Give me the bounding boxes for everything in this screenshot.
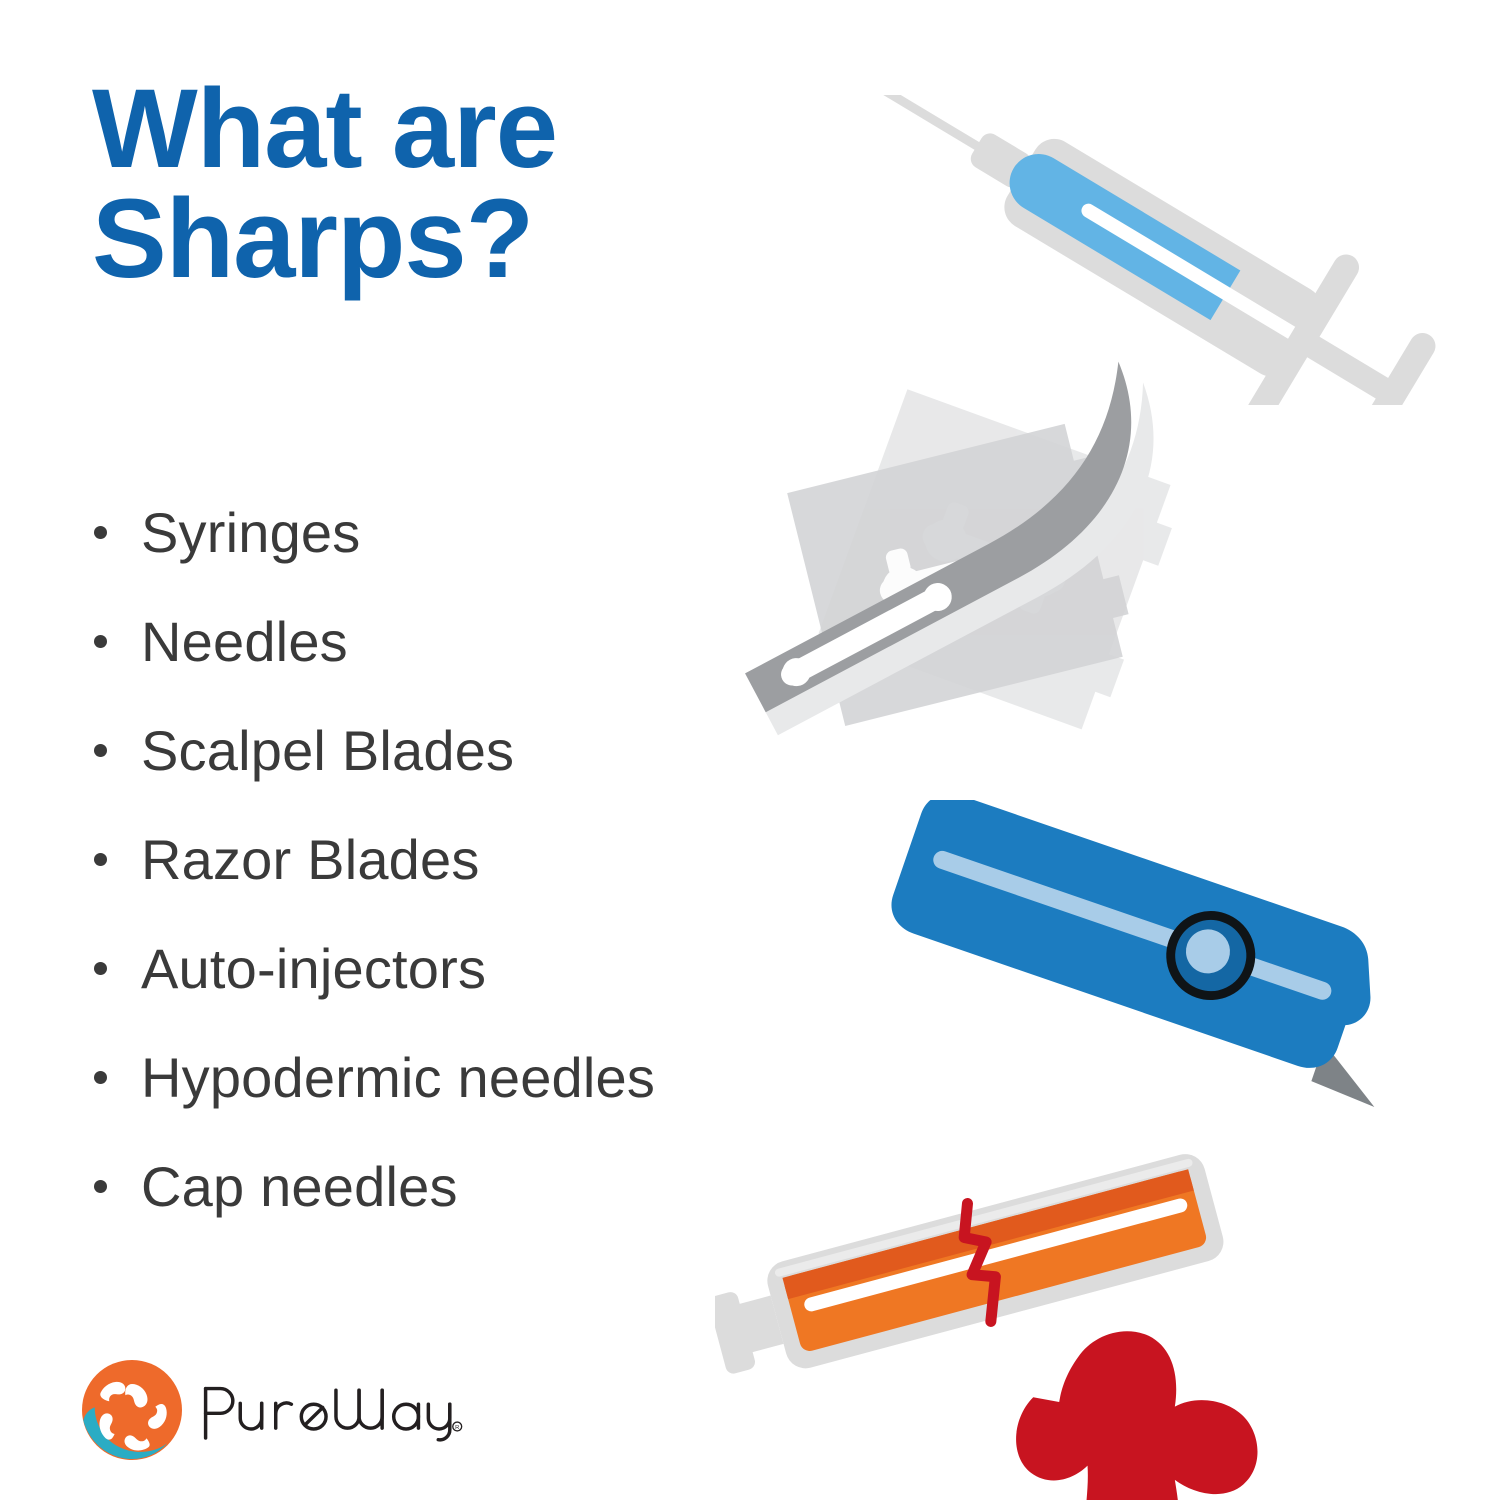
list-item-label: Razor Blades bbox=[141, 832, 480, 888]
title-line-1: What are bbox=[92, 74, 732, 184]
pureway-wordmark: R bbox=[198, 1377, 464, 1443]
pureway-logo[interactable]: R bbox=[80, 1358, 464, 1462]
bullet-dot-icon bbox=[94, 1180, 107, 1193]
list-item: Cap needles bbox=[92, 1132, 852, 1241]
list-item-label: Syringes bbox=[141, 505, 360, 561]
svg-text:R: R bbox=[455, 1425, 459, 1431]
list-item-label: Needles bbox=[141, 614, 348, 670]
sharps-list: Syringes Needles Scalpel Blades Razor Bl… bbox=[92, 478, 852, 1241]
list-item-label: Auto-injectors bbox=[141, 941, 486, 997]
list-item-label: Cap needles bbox=[141, 1159, 458, 1215]
pureway-swirl-logo-icon bbox=[80, 1358, 184, 1462]
bullet-dot-icon bbox=[94, 1071, 107, 1084]
list-item-label: Hypodermic needles bbox=[141, 1050, 655, 1106]
list-item: Syringes bbox=[92, 478, 852, 587]
bullet-dot-icon bbox=[94, 853, 107, 866]
list-item: Hypodermic needles bbox=[92, 1023, 852, 1132]
list-item: Scalpel Blades bbox=[92, 696, 852, 805]
list-item: Needles bbox=[92, 587, 852, 696]
syringe-illustration bbox=[820, 95, 1480, 405]
page-title: What are Sharps? bbox=[92, 74, 732, 294]
title-line-2: Sharps? bbox=[92, 184, 732, 294]
bullet-dot-icon bbox=[94, 526, 107, 539]
list-item-label: Scalpel Blades bbox=[141, 723, 514, 779]
bullet-dot-icon bbox=[94, 744, 107, 757]
box-cutter-illustration bbox=[850, 800, 1450, 1120]
bullet-dot-icon bbox=[94, 635, 107, 648]
list-item: Razor Blades bbox=[92, 805, 852, 914]
bullet-dot-icon bbox=[94, 962, 107, 975]
list-item: Auto-injectors bbox=[92, 914, 852, 1023]
infographic-canvas: What are Sharps? Syringes Needles Scalpe… bbox=[0, 0, 1500, 1500]
